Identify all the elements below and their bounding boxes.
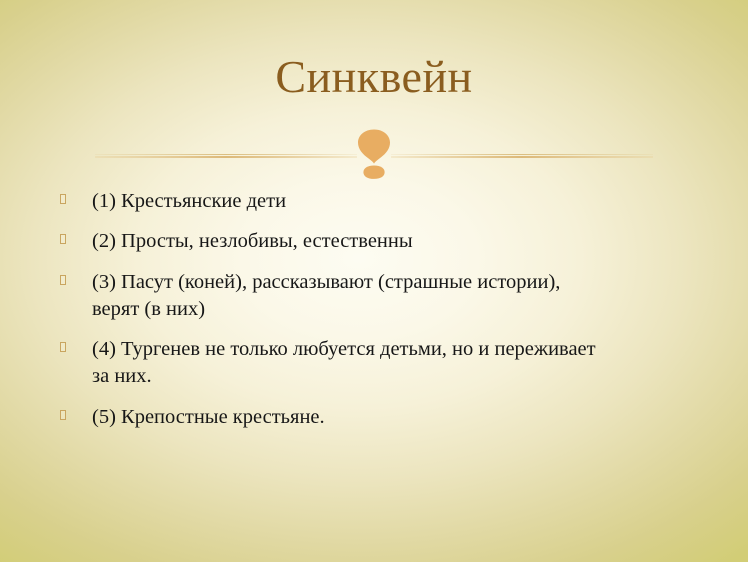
- divider-rule-left: [95, 154, 357, 158]
- decorative-divider: [60, 128, 688, 180]
- rule-thick-line: [95, 156, 357, 158]
- list-item-text: (1) Крестьянские дети: [92, 188, 600, 215]
- content-placeholder: (1) Крестьянские дети (2) Просты, незлоб…: [60, 188, 680, 431]
- list-item: (3) Пасут (коней), рассказывают (страшны…: [60, 269, 680, 324]
- title-placeholder: Синквейн: [60, 52, 688, 102]
- list-item-text: (4) Тургенев не только любуется детьми, …: [92, 336, 600, 391]
- rule-thick-line: [391, 156, 653, 158]
- bullet-marker-icon: [60, 404, 92, 422]
- list-item: (1) Крестьянские дети: [60, 188, 680, 215]
- bullet-marker-icon: [60, 228, 92, 246]
- list-item: (4) Тургенев не только любуется детьми, …: [60, 336, 680, 391]
- rule-thin-line: [95, 154, 357, 155]
- rule-thin-line: [391, 154, 653, 155]
- bullet-marker-icon: [60, 269, 92, 287]
- list-item-text: (2) Просты, незлобивы, естественны: [92, 228, 600, 255]
- list-item: (2) Просты, незлобивы, естественны: [60, 228, 680, 255]
- list-item: (5) Крепостные крестьяне.: [60, 404, 680, 431]
- divider-rule-right: [391, 154, 653, 158]
- list-item-text: (5) Крепостные крестьяне.: [92, 404, 600, 431]
- bullet-marker-icon: [60, 336, 92, 354]
- inverted-exclamation-ornament-icon: [352, 128, 396, 180]
- presentation-slide: Синквейн (1) Крестьянские дети: [0, 0, 748, 562]
- bullet-marker-icon: [60, 188, 92, 206]
- list-item-text: (3) Пасут (коней), рассказывают (страшны…: [92, 269, 600, 324]
- page-title: Синквейн: [60, 52, 688, 102]
